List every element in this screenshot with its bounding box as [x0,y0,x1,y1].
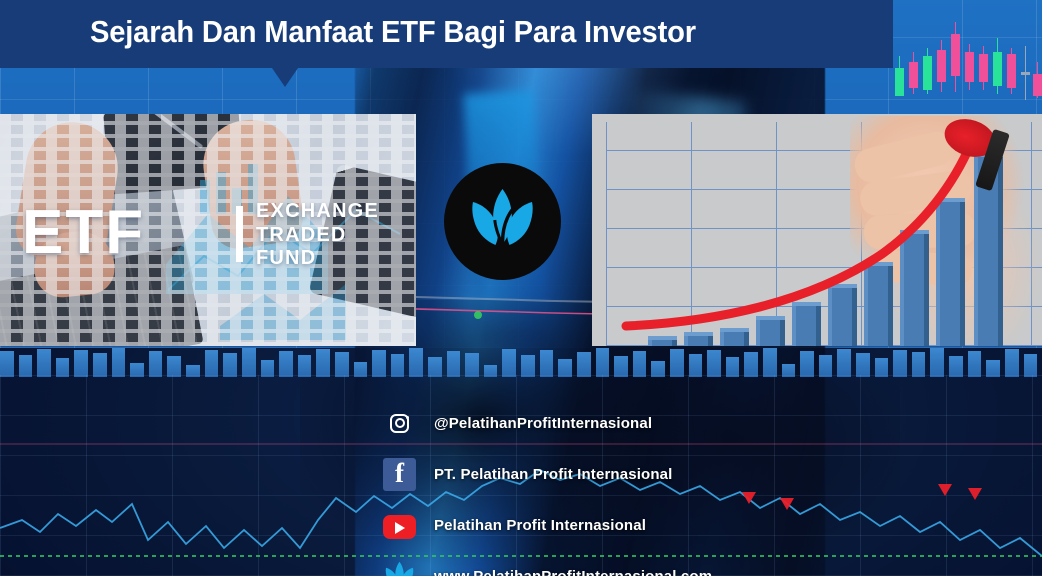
etf-subline-3: FUND [256,247,379,271]
social-row-youtube[interactable]: Pelatihan Profit Internasional [383,500,903,550]
facebook-page-name: PT. Pelatihan Profit Internasional [434,466,672,483]
social-row-instagram[interactable]: @PelatihanProfitInternasional [383,398,903,448]
social-links: @PelatihanProfitInternasional f PT. Pela… [383,398,903,576]
growth-chart-photo [592,114,1042,346]
youtube-icon[interactable] [383,515,416,539]
etf-headline: ETF [22,202,145,264]
social-row-facebook[interactable]: f PT. Pelatihan Profit Internasional [383,449,903,499]
background-volume-bars [0,347,1042,377]
lotus-logo-icon[interactable] [383,560,416,576]
etf-subline-2: TRADED [256,224,379,248]
lotus-logo-icon [464,183,541,260]
website-url: www.PelatihanProfitInternasional.com [434,568,712,576]
lotus-logo [444,163,561,280]
etf-photo: ETF EXCHANGE TRADED FUND [0,114,416,346]
etf-subline-1: EXCHANGE [256,200,379,224]
etf-subline: EXCHANGE TRADED FUND [256,200,379,271]
header-notch [272,68,298,87]
instagram-icon[interactable] [383,407,416,440]
page-title: Sejarah Dan Manfaat ETF Bagi Para Invest… [90,14,804,50]
youtube-channel-name: Pelatihan Profit Internasional [434,517,646,534]
facebook-icon[interactable]: f [383,458,416,491]
poster-canvas: ETF EXCHANGE TRADED FUND [0,0,1042,576]
instagram-handle: @PelatihanProfitInternasional [434,415,652,432]
etf-divider [236,206,243,262]
background-candlestick-chart [893,0,1042,110]
social-row-website[interactable]: www.PelatihanProfitInternasional.com [383,551,903,576]
